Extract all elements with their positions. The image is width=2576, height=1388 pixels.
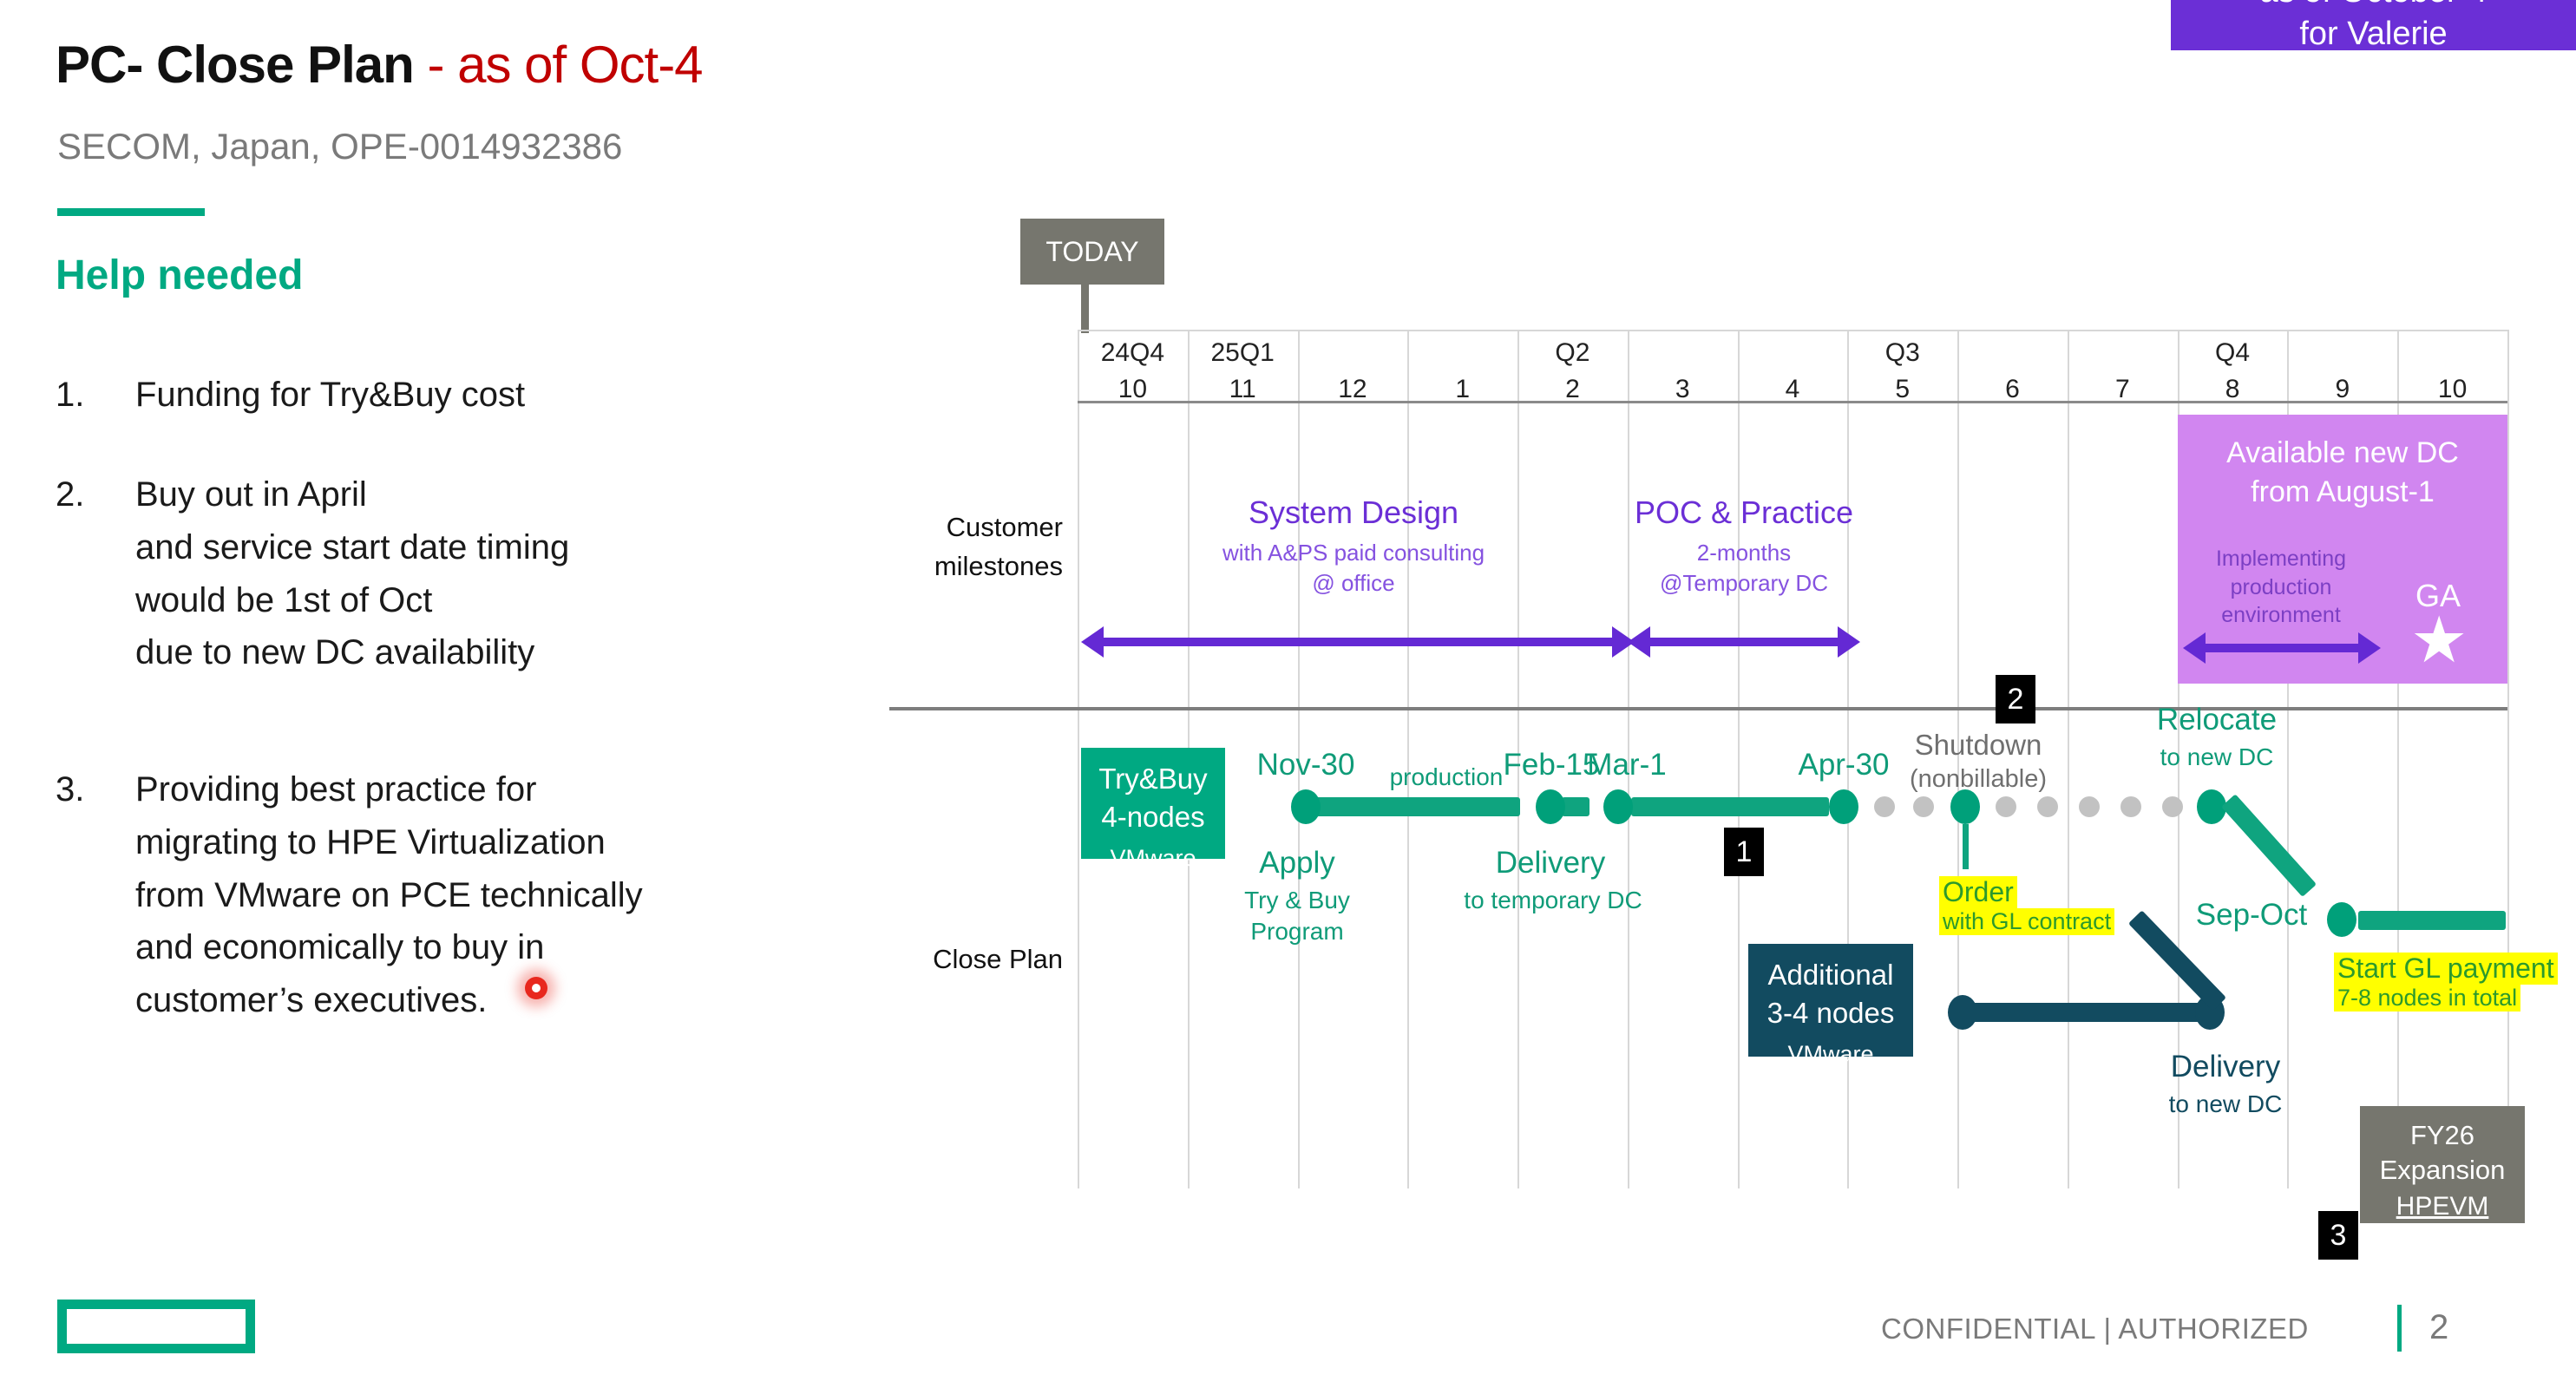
month-tick-label: 12 [1298, 375, 1408, 404]
list-item-number: 3. [56, 763, 109, 816]
row-label-close-plan: Close Plan [876, 944, 1063, 975]
order-connector-stem [1963, 824, 1969, 869]
list-item-number: 2. [56, 468, 109, 521]
month-tick-label: 2 [1517, 375, 1628, 404]
footer-divider [2397, 1305, 2402, 1352]
shutdown-line2: (nonbillable) [1865, 763, 2091, 795]
grid-line [2507, 330, 2509, 1188]
teal-track-segment [1971, 1003, 2210, 1022]
green-track-segment-3 [1631, 797, 1829, 816]
list-item: 2. Buy out in April and service start da… [56, 468, 871, 679]
callout-line2: for Valerie [2171, 13, 2576, 56]
delivery-newdc-title: Delivery [2130, 1050, 2321, 1084]
track-placeholder-dot [1874, 796, 1895, 817]
list-item: 3. Providing best practice for migrating… [56, 763, 871, 1027]
milestone-title-poc-practice: POC & Practice [1605, 494, 1883, 531]
milestone-dot-apr30 [1829, 789, 1858, 824]
order-label: Order with GL contract [1939, 876, 2156, 935]
trybuy-box-line1: Try&Buy 4-nodes [1081, 748, 1225, 836]
milestone-sub-system-design: with A&PS paid consulting @ office [1154, 538, 1553, 599]
month-tick-label: 6 [1957, 375, 2068, 404]
grid-line [1407, 330, 1409, 1188]
implementing-production-arrow [2204, 644, 2360, 652]
track-placeholder-dot [2120, 796, 2141, 817]
green-track-gl-payment [2358, 911, 2506, 930]
month-tick-label: 9 [2287, 375, 2397, 404]
order-line1: Order [1939, 876, 2017, 908]
fy26-expansion-box: FY26 Expansion HPEVM [2360, 1106, 2525, 1223]
track-placeholder-dot [2079, 796, 2100, 817]
event-sub-apply: Try & Buy Program [1215, 885, 1380, 948]
milestone-dot-mar1 [1603, 789, 1633, 824]
mouse-cursor-dot [525, 977, 547, 999]
title-accent-rule [57, 208, 205, 216]
dc-box-headline: Available new DC from August-1 [2178, 434, 2507, 512]
relocate-sub: to new DC [2126, 742, 2308, 773]
shutdown-label: Shutdown (nonbillable) [1865, 727, 2091, 795]
list-item-text: Funding for Try&Buy cost [135, 369, 871, 422]
gl-payment-label: Start GL payment 7-8 nodes in total [2334, 953, 2576, 1012]
delivery-newdc-sub: to new DC [2130, 1089, 2321, 1120]
month-tick-label: 10 [1078, 375, 1188, 404]
dc-box-note: Implementing production environment [2190, 545, 2372, 630]
event-title-delivery-temp: Delivery [1442, 846, 1659, 881]
step-badge-2: 2 [1996, 675, 2035, 723]
today-marker-stem [1081, 285, 1089, 333]
month-tick-label: 1 [1407, 375, 1517, 404]
page-title: PC- Close Plan - as of Oct-4 [56, 35, 703, 95]
list-item-number: 1. [56, 369, 109, 422]
system-design-arrow [1102, 638, 1614, 646]
gl-payment-line2: 7-8 nodes in total [2334, 985, 2520, 1012]
trybuy-box-line2: VMware [1081, 836, 1225, 872]
callout-line1: as of October-4 [2171, 0, 2576, 13]
section-heading-help-needed: Help needed [56, 252, 303, 299]
month-tick-label: 8 [2178, 375, 2288, 404]
fy26-line1: FY26 [2360, 1118, 2525, 1153]
milestone-dot-sep-oct [2327, 902, 2356, 937]
additional-box-line2: VMware [1748, 1032, 1913, 1068]
date-label-nov30: Nov-30 [1228, 748, 1384, 782]
month-tick-label: 11 [1188, 375, 1298, 404]
month-tick-label: 4 [1738, 375, 1848, 404]
gl-payment-line1: Start GL payment [2334, 953, 2558, 985]
valerie-callout-badge: as of October-4 for Valerie [2171, 0, 2576, 50]
fy26-line2: Expansion [2360, 1153, 2525, 1188]
trybuy-4nodes-box: Try&Buy 4-nodes VMware [1081, 748, 1225, 859]
track-placeholder-dot [2162, 796, 2183, 817]
milestone-dot-nov30 [1291, 789, 1321, 824]
milestone-dot-feb15 [1536, 789, 1565, 824]
quarter-tick-label: 25Q1 [1188, 338, 1298, 368]
month-tick-label: 10 [2397, 375, 2507, 404]
order-line2: with GL contract [1939, 908, 2114, 935]
grid-line [1738, 330, 1740, 1188]
date-label-mar1: Mar-1 [1553, 748, 1701, 782]
page-title-asof: as of Oct-4 [457, 36, 702, 94]
relocate-title: Relocate [2126, 703, 2308, 737]
green-track-segment-1 [1301, 797, 1520, 816]
additional-nodes-box: Additional 3-4 nodes VMware [1748, 944, 1913, 1057]
milestone-title-system-design: System Design [1189, 494, 1518, 531]
track-placeholder-dot [2037, 796, 2058, 817]
page-number: 2 [2429, 1308, 2448, 1347]
list-item: 1. Funding for Try&Buy cost [56, 369, 871, 422]
month-tick-label: 5 [1847, 375, 1957, 404]
list-item-text: Buy out in April and service start date … [135, 468, 871, 679]
page-subtitle: SECOM, Japan, OPE-0014932386 [57, 126, 622, 167]
track-placeholder-dot [1996, 796, 2016, 817]
page-title-main: PC- Close Plan [56, 36, 414, 94]
confidentiality-notice: CONFIDENTIAL | AUTHORIZED [1881, 1313, 2309, 1345]
quarter-tick-label: Q4 [2178, 338, 2288, 368]
hpe-logo [57, 1300, 255, 1353]
page-title-dash: - [427, 36, 443, 94]
row-label-customer-milestones: Customer milestones [894, 508, 1063, 586]
fy26-line3: HPEVM [2396, 1192, 2489, 1221]
step-badge-3: 3 [2318, 1211, 2358, 1260]
ga-star-icon: ★ [2410, 616, 2468, 665]
month-tick-label: 7 [2068, 375, 2178, 404]
green-track-segment-2 [1562, 797, 1590, 816]
milestone-sub-poc-practice: 2-months @Temporary DC [1605, 538, 1883, 599]
additional-box-line1: Additional 3-4 nodes [1748, 944, 1913, 1032]
step-badge-1: 1 [1724, 828, 1764, 876]
today-marker: TODAY [1020, 219, 1164, 285]
track-placeholder-dot [1913, 796, 1934, 817]
list-item-text: Providing best practice for migrating to… [135, 763, 871, 1027]
event-title-apply: Apply [1215, 846, 1380, 881]
poc-practice-arrow [1649, 638, 1839, 646]
month-tick-label: 3 [1628, 375, 1738, 404]
quarter-tick-label: Q3 [1847, 338, 1957, 368]
event-sub-delivery-temp: to temporary DC [1414, 885, 1692, 916]
shutdown-line1: Shutdown [1865, 727, 2091, 763]
quarter-tick-label: 24Q4 [1078, 338, 1188, 368]
grid-line [1078, 330, 1079, 1188]
sep-oct-label: Sep-Oct [2178, 898, 2325, 933]
quarter-tick-label: Q2 [1517, 338, 1628, 368]
